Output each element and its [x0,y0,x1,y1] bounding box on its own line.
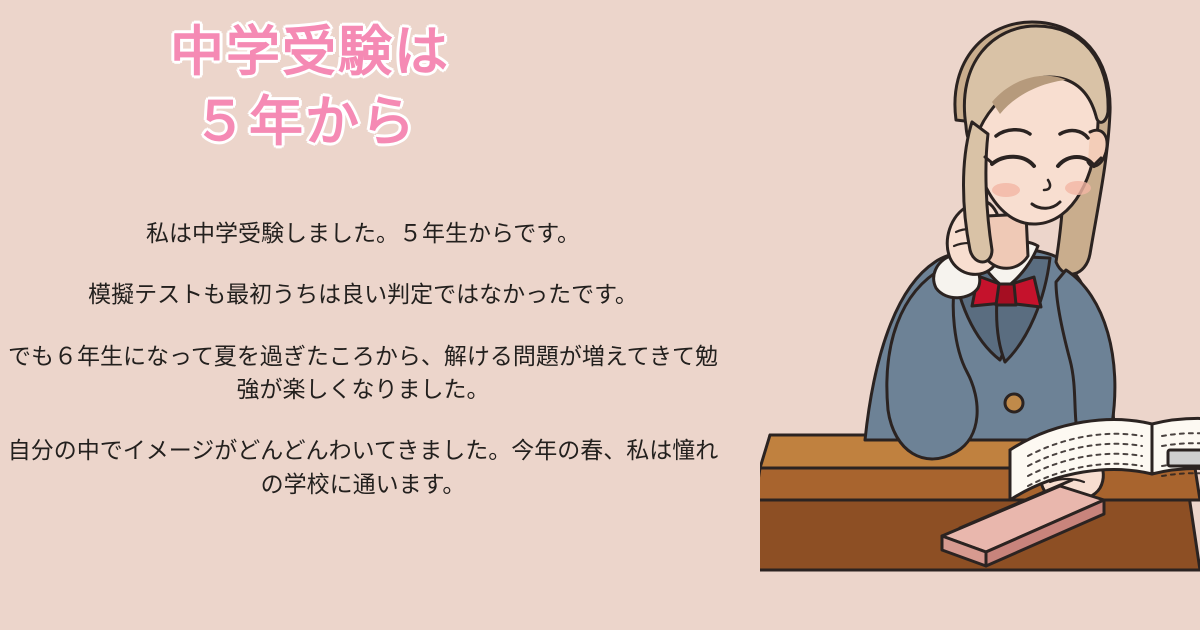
paragraph-3: でも６年生になって夏を過ぎたころから、解ける問題が増えてきて勉強が楽しくなりまし… [0,341,726,408]
paragraph-1: 私は中学受験しました。５年生からです。 [0,218,726,251]
title-line-2: ５年から [0,92,690,152]
page-title: 中学受験は ５年から [0,22,690,153]
paragraph-2: 模擬テストも最初うちは良い判定ではなかったです。 [0,279,726,312]
poster-canvas: 中学受験は ５年から 私は中学受験しました。５年生からです。 模擬テストも最初う… [0,0,1200,630]
head [955,22,1110,274]
title-line-1: 中学受験は [0,22,690,82]
illustration-svg [760,0,1200,630]
body-copy: 私は中学受験しました。５年生からです。 模擬テストも最初うちは良い判定ではなかっ… [0,218,726,502]
paragraph-4: 自分の中でイメージがどんどんわいてきました。今年の春、私は憧れの学校に通います。 [0,435,726,502]
girl-studying-at-desk-illustration [760,0,1200,630]
